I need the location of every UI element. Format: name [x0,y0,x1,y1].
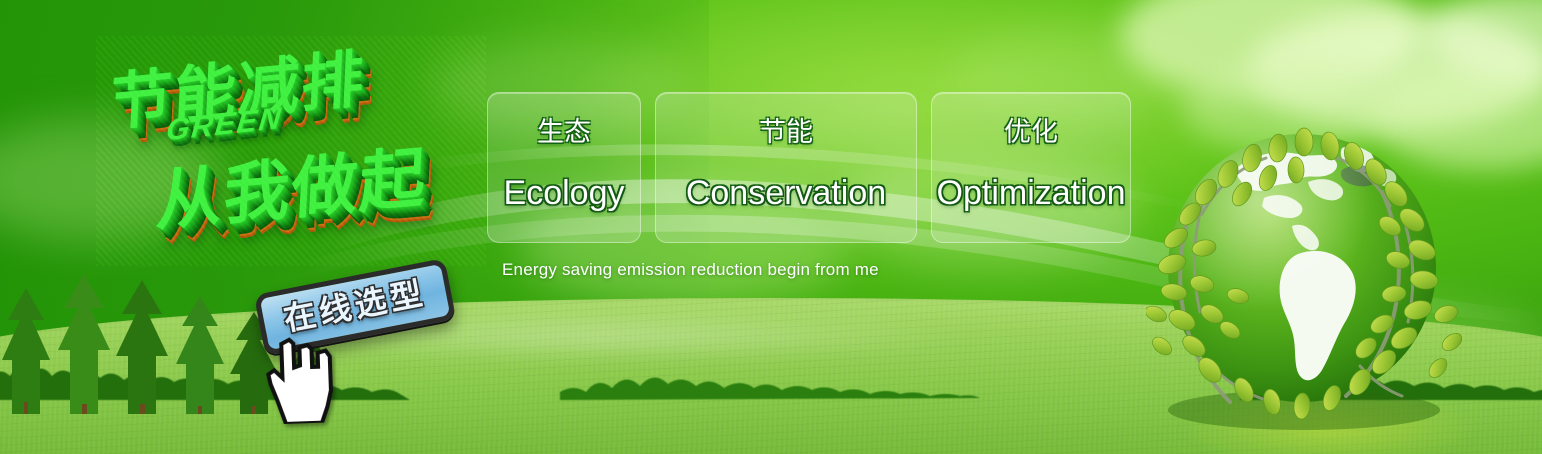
feature-card-conservation[interactable]: 节能 Conservation [655,92,917,243]
leafy-earth-globe [1146,118,1462,434]
feature-card-en-label: Conservation [686,176,886,210]
banner-tagline: Energy saving emission reduction begin f… [502,260,879,280]
cta-button-label: 在线选型 [281,277,428,336]
feature-card-cn-label: 优化 [1004,119,1058,146]
feature-card-en-label: Optimization [937,176,1126,210]
treeline-center-icon [560,348,980,400]
feature-card-en-label: Ecology [504,176,625,210]
pointer-hand-cursor-icon [263,330,342,425]
feature-card-optimization[interactable]: 优化 Optimization [931,92,1131,243]
feature-card-group: 生态 Ecology 节能 Conservation 优化 Optimizati… [487,92,1131,243]
feature-card-ecology[interactable]: 生态 Ecology [487,92,641,243]
headline-3d-art: 节能减排 GREEN 从我做起 [96,36,486,266]
feature-card-cn-label: 生态 [537,119,591,146]
green-promo-banner: 节能减排 GREEN 从我做起 在线选型 生态 Ecology 节能 Conse… [0,0,1542,454]
feature-card-cn-label: 节能 [759,119,813,146]
